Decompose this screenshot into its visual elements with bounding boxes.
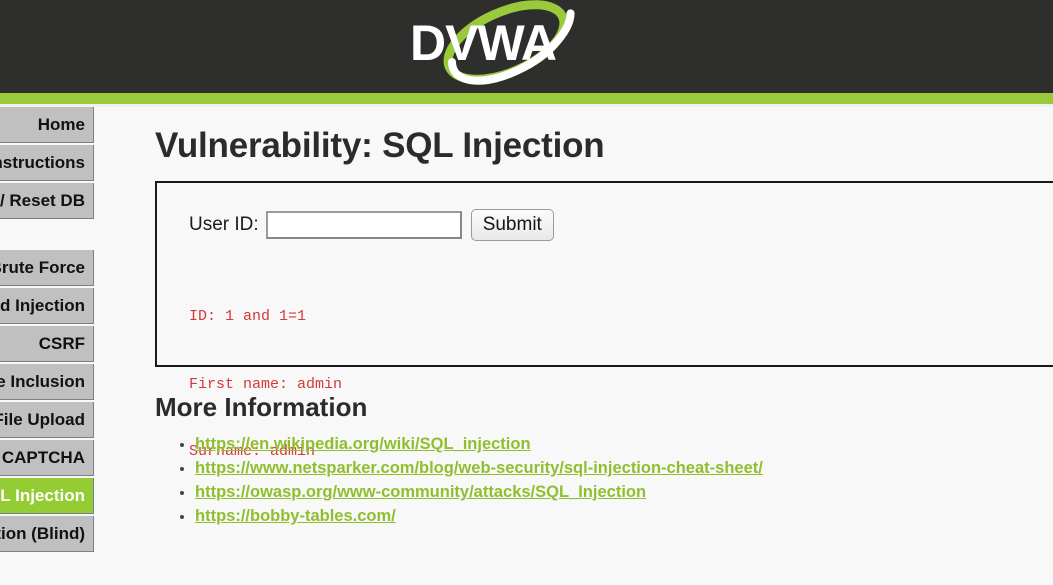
user-id-form: User ID: Submit (189, 209, 1053, 241)
sidebar-item-setup-reset-db[interactable]: Setup / Reset DB (0, 183, 94, 219)
sidebar-item-label: File Upload (0, 410, 85, 430)
page-title: Vulnerability: SQL Injection (155, 107, 1053, 167)
sidebar-item-label: Setup / Reset DB (0, 191, 85, 211)
user-id-input[interactable] (266, 211, 462, 239)
sidebar-item-sql-injection[interactable]: SQL Injection (0, 478, 94, 514)
sidebar-item-label: Brute Force (0, 258, 85, 278)
sidebar-item-file-upload[interactable]: File Upload (0, 402, 94, 438)
sidebar-item-instructions[interactable]: Instructions (0, 145, 94, 181)
dvwa-logo: DVWA (398, 0, 588, 93)
sidebar-item-label: Command Injection (0, 296, 85, 316)
link-wikipedia-sql-injection[interactable]: https://en.wikipedia.org/wiki/SQL_inject… (195, 435, 531, 453)
sidebar-item-brute-force[interactable]: Brute Force (0, 250, 94, 286)
sidebar-item-label: Home (38, 115, 85, 135)
sidebar-nav: Home Instructions Setup / Reset DB Brute… (0, 107, 94, 554)
list-item: https://bobby-tables.com/ (195, 505, 1053, 528)
sidebar-item-command-injection[interactable]: Command Injection (0, 288, 94, 324)
link-netsparker-cheat-sheet[interactable]: https://www.netsparker.com/blog/web-secu… (195, 459, 763, 477)
user-id-label: User ID: (189, 214, 259, 236)
sidebar-item-label: CSRF (39, 334, 85, 354)
svg-text:DVWA: DVWA (410, 15, 556, 71)
sidebar-item-home[interactable]: Home (0, 107, 94, 143)
main-content: Vulnerability: SQL Injection User ID: Su… (155, 107, 1053, 529)
list-item: https://owasp.org/www-community/attacks/… (195, 481, 1053, 504)
sidebar-item-insecure-captcha[interactable]: Insecure CAPTCHA (0, 440, 94, 476)
sidebar-item-label: SQL Injection (Blind) (0, 524, 85, 544)
sidebar-group-divider (0, 221, 94, 250)
list-item: https://en.wikipedia.org/wiki/SQL_inject… (195, 433, 1053, 456)
sidebar-group-vulnerabilities: Brute Force Command Injection CSRF File … (0, 250, 94, 552)
sidebar-item-label: Instructions (0, 153, 85, 173)
sidebar-item-csrf[interactable]: CSRF (0, 326, 94, 362)
sidebar-item-label: Insecure CAPTCHA (0, 448, 85, 468)
link-bobby-tables[interactable]: https://bobby-tables.com/ (195, 507, 396, 525)
sidebar-item-file-inclusion[interactable]: File Inclusion (0, 364, 94, 400)
sidebar-item-label: File Inclusion (0, 372, 85, 392)
dvwa-page: DVWA Home Instructions Setup / Reset DB … (0, 0, 1053, 585)
sidebar-group-main: Home Instructions Setup / Reset DB (0, 107, 94, 219)
more-information-links: https://en.wikipedia.org/wiki/SQL_inject… (155, 433, 1053, 528)
submit-button[interactable]: Submit (471, 209, 554, 241)
link-owasp-sql-injection[interactable]: https://owasp.org/www-community/attacks/… (195, 483, 646, 501)
list-item: https://www.netsparker.com/blog/web-secu… (195, 457, 1053, 480)
site-header: DVWA (0, 0, 1053, 93)
result-line-id: ID: 1 and 1=1 (189, 306, 1053, 329)
sidebar-item-sql-injection-blind[interactable]: SQL Injection (Blind) (0, 516, 94, 552)
header-accent-stripe (0, 93, 1053, 104)
sidebar-item-label: SQL Injection (0, 486, 85, 506)
vulnerability-panel: User ID: Submit ID: 1 and 1=1 First name… (155, 181, 1053, 367)
more-information-title: More Information (155, 391, 1053, 423)
